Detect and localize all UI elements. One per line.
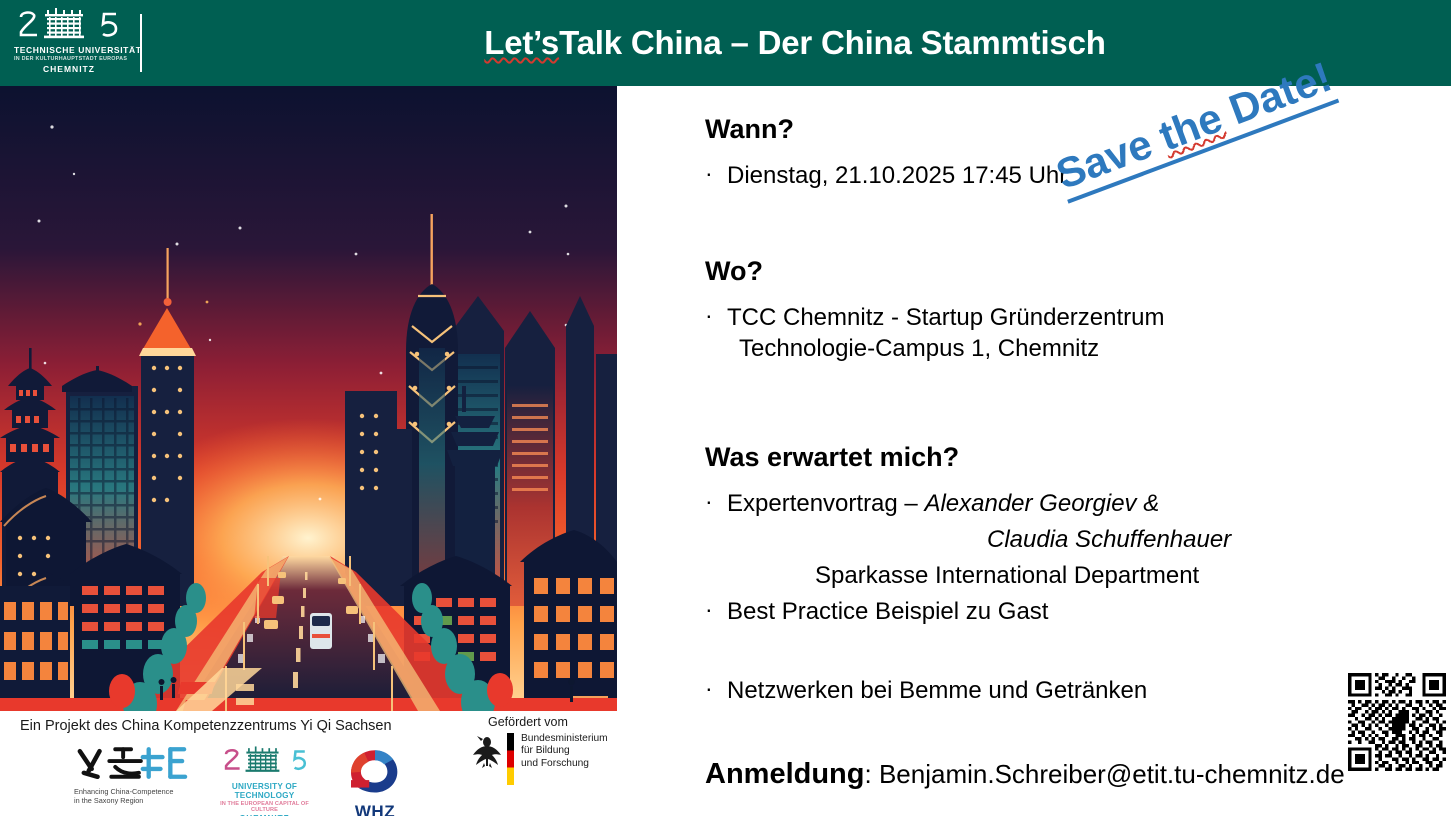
yi-qi-glyphs-icon <box>68 743 193 783</box>
registration-email[interactable]: Benjamin.Schreiber@etit.tu-chemnitz.de <box>879 759 1345 789</box>
funding-heading: Gefördert vom <box>488 715 630 729</box>
funding-ministry-name: Bundesministerium für Bildung und Forsch… <box>521 733 608 770</box>
item-was-4: · Netzwerken bei Bemme und Getränken <box>705 673 1147 708</box>
item-wo-0: · TCC Chemnitz - Startup Gründerzentrum <box>705 300 1164 335</box>
item-wo-0-text: TCC Chemnitz - Startup Gründerzentrum <box>727 300 1164 335</box>
tu-chemnitz-logo: TECHNISCHE UNIVERSITÄT IN DER KULTURHAUP… <box>14 6 124 78</box>
header-bar: TECHNISCHE UNIVERSITÄT IN DER KULTURHAUP… <box>0 0 1451 86</box>
item-was-0: · Expertenvortrag – Alexander Georgiev & <box>705 486 1159 521</box>
registration-separator: : <box>865 759 879 789</box>
funding-line3: und Forschung <box>521 758 608 770</box>
funding-line1: Bundesministerium <box>521 733 608 745</box>
poster-slide: TECHNISCHE UNIVERSITÄT IN DER KULTURHAUP… <box>0 0 1451 816</box>
heading-wann: Wann? <box>705 114 794 145</box>
page-title-rest: Talk China – Der China Stammtisch <box>559 24 1106 62</box>
item-was-4-text: Netzwerken bei Bemme und Getränken <box>727 673 1147 708</box>
federal-eagle-icon <box>470 733 504 769</box>
yi-qi-subtitle-line1: Enhancing China-Competence <box>74 787 193 796</box>
heading-wo: Wo? <box>705 256 763 287</box>
item-wo-1-text: Technologie-Campus 1, Chemnitz <box>739 331 1099 366</box>
tuc-2025-mark-icon <box>17 8 121 42</box>
bullet-icon: · <box>705 673 727 703</box>
page-title: Let’s Talk China – Der China Stammtisch <box>150 0 1440 86</box>
tuc-2025-color-mark-icon <box>221 745 309 775</box>
whz-label: WHZ <box>336 802 414 816</box>
item-wann-0: · Dienstag, 21.10.2025 17:45 Uhr <box>705 158 1067 193</box>
tuc-logo-line3: CHEMNITZ <box>14 64 124 74</box>
tuc-logo-line1: TECHNISCHE UNIVERSITÄT <box>14 45 124 55</box>
item-was-0-text: Expertenvortrag – Alexander Georgiev & <box>727 486 1159 521</box>
item-was-3: · Best Practice Beispiel zu Gast <box>705 594 1048 629</box>
item-was-2-text: Sparkasse International Department <box>815 558 1199 593</box>
bullet-icon: · <box>705 594 727 624</box>
heading-was-erwartet-mich: Was erwartet mich? <box>705 442 959 473</box>
whz-logo: WHZ <box>336 747 414 815</box>
registration-label: Anmeldung <box>705 758 865 790</box>
registration-qr-code[interactable] <box>1348 673 1446 771</box>
page-title-part1: Let’s <box>484 24 559 62</box>
yi-qi-subtitle-line2: in the Saxony Region <box>74 796 193 805</box>
tuc-logo-line2: IN DER KULTURHAUPTSTADT EUROPAS <box>14 56 124 62</box>
german-flag-bar <box>507 733 514 785</box>
header-divider <box>140 14 142 72</box>
bmbf-funding-logo: Gefördert vom Bundesministerium für Bild… <box>470 715 630 810</box>
item-wann-0-text: Dienstag, 21.10.2025 17:45 Uhr <box>727 158 1067 193</box>
bullet-icon: · <box>705 486 727 516</box>
project-caption: Ein Projekt des China Kompetenzzentrums … <box>20 718 392 734</box>
item-was-1-text: Claudia Schuffenhauer <box>987 522 1231 557</box>
yi-qi-subtitle: Enhancing China-Competence in the Saxony… <box>68 787 193 806</box>
tu-chemnitz-2025-color-logo: UNIVERSITY OF TECHNOLOGY IN THE EUROPEAN… <box>207 745 322 815</box>
item-was-0-italic: Alexander Georgiev & <box>924 490 1159 517</box>
tuc2025-line1: UNIVERSITY OF TECHNOLOGY <box>207 782 322 800</box>
funding-line2: für Bildung <box>521 745 608 757</box>
bullet-icon: · <box>705 300 727 330</box>
tuc2025-line2: IN THE EUROPEAN CAPITAL OF CULTURE <box>207 801 322 813</box>
whz-ring-icon <box>344 747 406 795</box>
item-was-0-plain: Expertenvortrag – <box>727 490 924 517</box>
bullet-icon: · <box>705 158 727 188</box>
city-illustration <box>0 86 617 711</box>
yi-qi-sachsen-logo: Enhancing China-Competence in the Saxony… <box>68 743 193 815</box>
event-details: Wann? · Dienstag, 21.10.2025 17:45 Uhr W… <box>617 86 1451 816</box>
item-was-3-text: Best Practice Beispiel zu Gast <box>727 594 1048 629</box>
registration-line: Anmeldung: Benjamin.Schreiber@etit.tu-ch… <box>705 758 1345 791</box>
